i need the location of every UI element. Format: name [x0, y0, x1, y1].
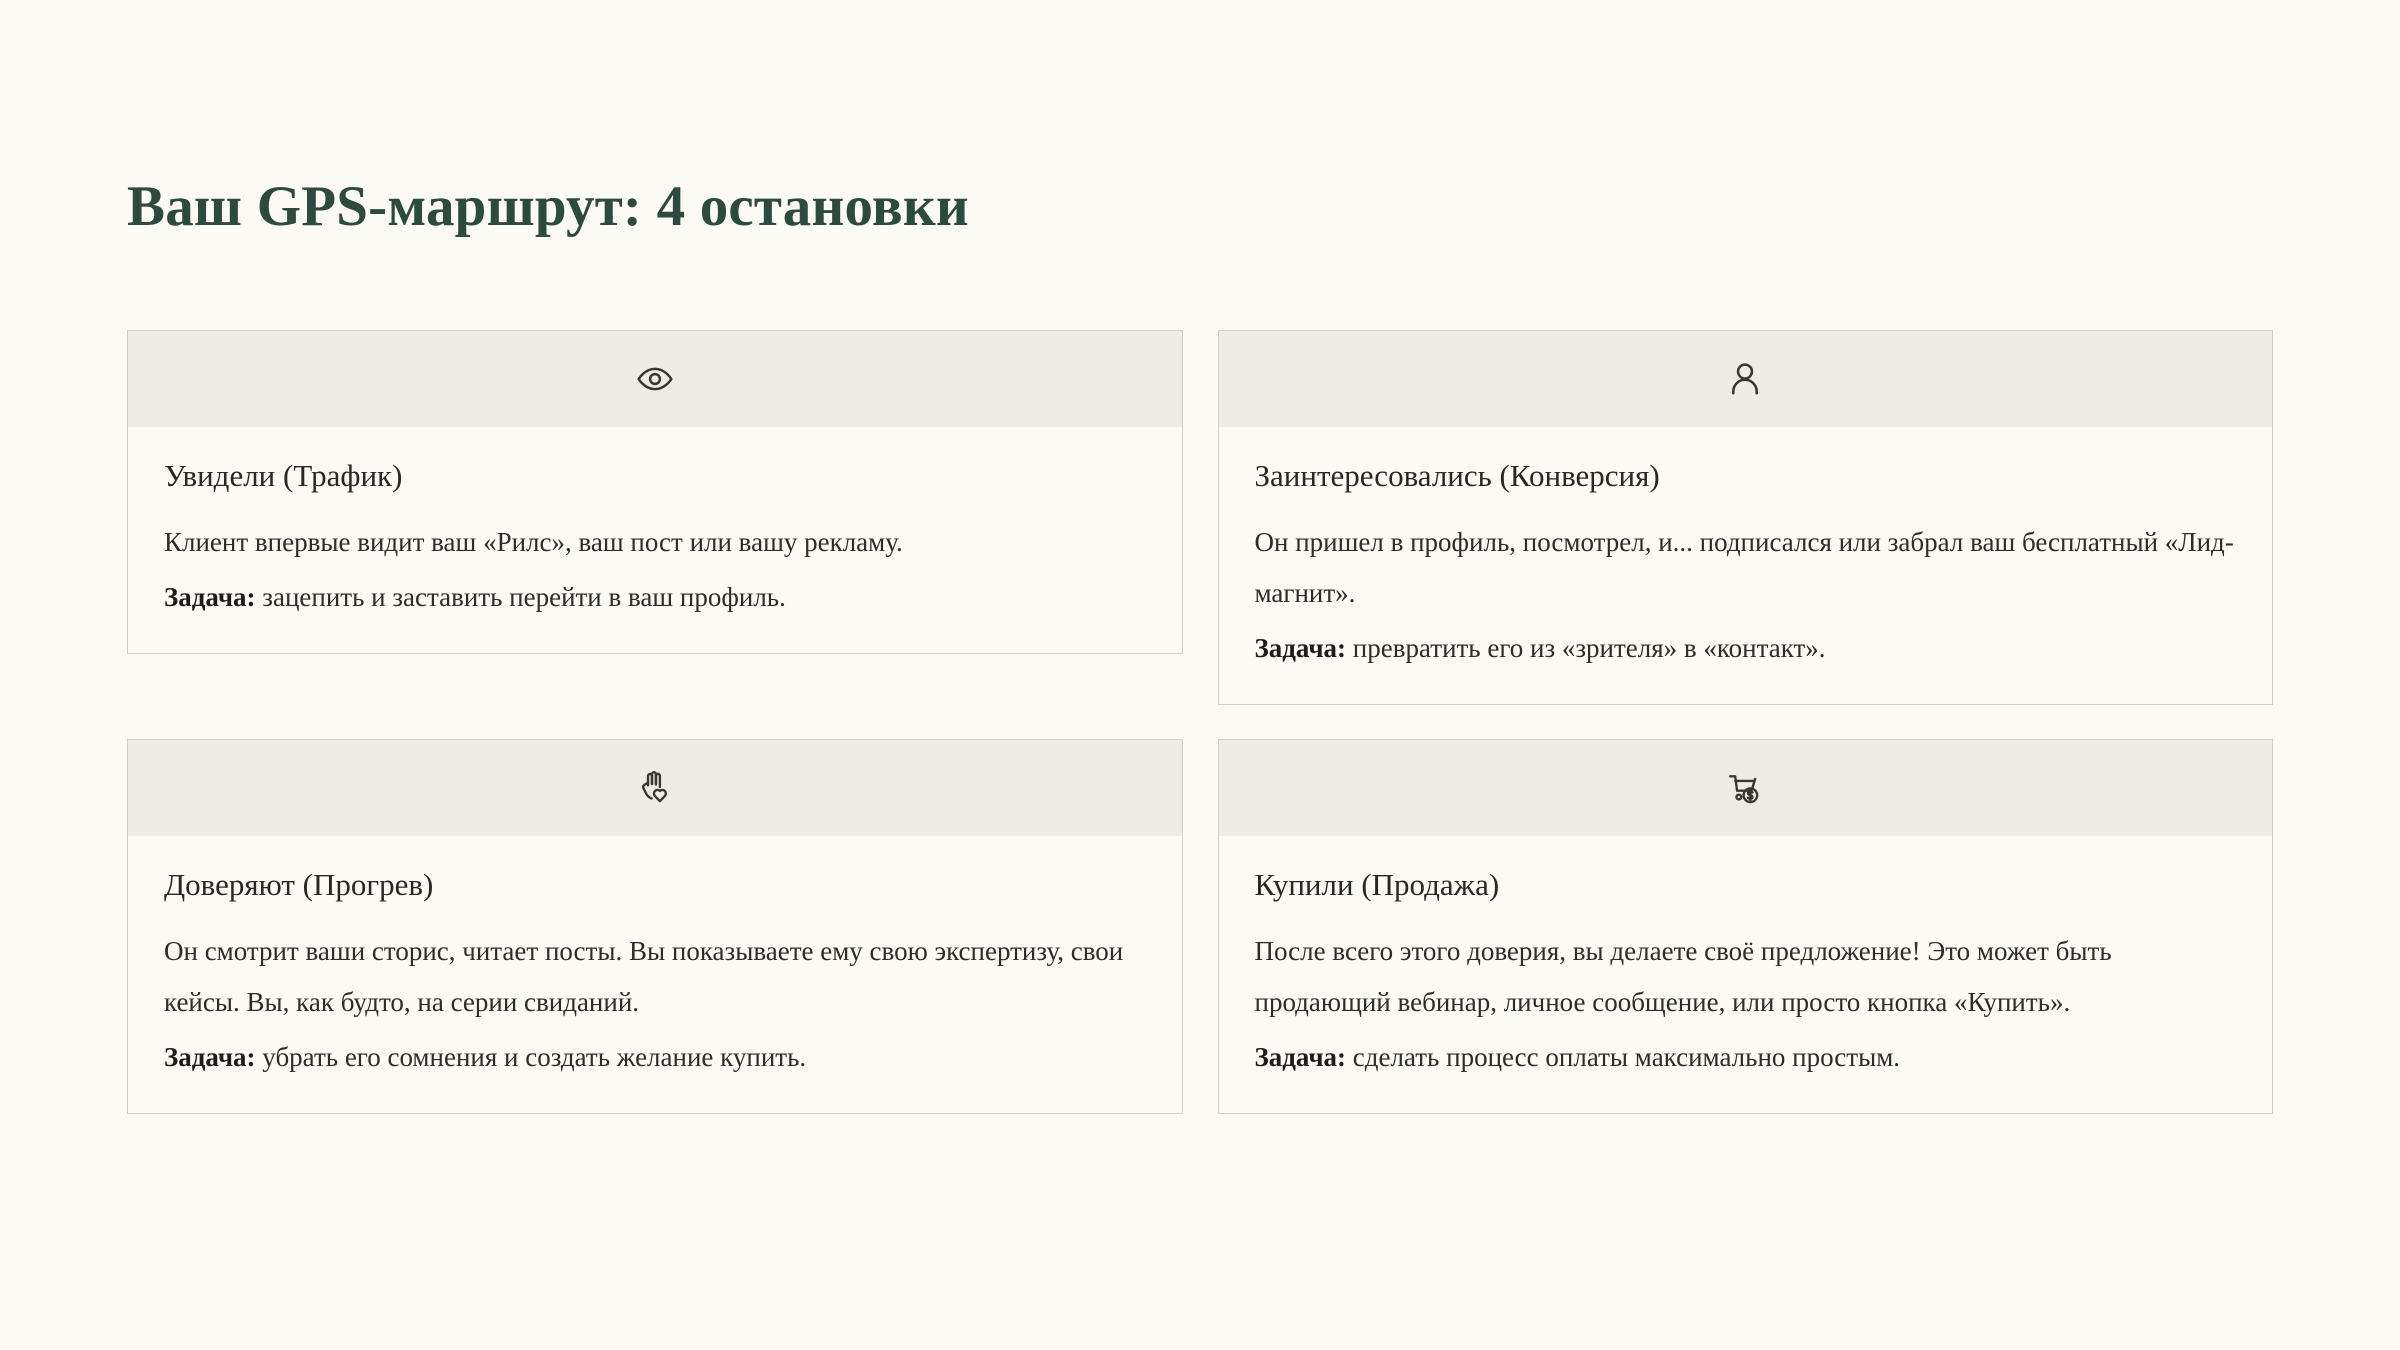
stage-card-grid: Увидели (Трафик) Клиент впервые видит ва… — [127, 330, 2273, 1114]
task-text: сделать процесс оплаты максимально прост… — [1346, 1042, 1900, 1072]
stage-card-task: Задача: зацепить и заставить перейти в в… — [164, 572, 1146, 623]
stage-card-body: Заинтересовались (Конверсия) Он пришел в… — [1219, 427, 2273, 704]
task-label: Задача: — [164, 582, 256, 612]
task-text: убрать его сомнения и создать желание ку… — [256, 1042, 807, 1072]
page-title: Ваш GPS-маршрут: 4 остановки — [127, 172, 969, 242]
stage-card-description: Клиент впервые видит ваш «Рилс», ваш пос… — [164, 517, 1146, 568]
stage-card-description: После всего этого доверия, вы делаете св… — [1255, 926, 2237, 1028]
task-label: Задача: — [164, 1042, 256, 1072]
stage-card-conversion: Заинтересовались (Конверсия) Он пришел в… — [1218, 330, 2274, 705]
user-icon — [1726, 360, 1764, 398]
task-text: превратить его из «зрителя» в «контакт». — [1346, 633, 1826, 663]
stage-card-body: Увидели (Трафик) Клиент впервые видит ва… — [128, 427, 1182, 653]
stage-card-title: Заинтересовались (Конверсия) — [1255, 457, 2237, 495]
hand-heart-icon — [636, 769, 674, 807]
stage-card-task: Задача: убрать его сомнения и создать же… — [164, 1032, 1146, 1083]
stage-card-body: Доверяют (Прогрев) Он смотрит ваши стори… — [128, 836, 1182, 1113]
stage-card-header — [128, 331, 1182, 427]
stage-card-trust: Доверяют (Прогрев) Он смотрит ваши стори… — [127, 739, 1183, 1114]
stage-card-title: Доверяют (Прогрев) — [164, 866, 1146, 904]
task-text: зацепить и заставить перейти в ваш профи… — [256, 582, 786, 612]
page-root: Ваш GPS-маршрут: 4 остановки Увидели (Тр… — [0, 0, 2400, 1350]
stage-card-task: Задача: сделать процесс оплаты максималь… — [1255, 1032, 2237, 1083]
stage-card-title: Купили (Продажа) — [1255, 866, 2237, 904]
task-label: Задача: — [1255, 1042, 1347, 1072]
stage-card-body: Купили (Продажа) После всего этого довер… — [1219, 836, 2273, 1113]
stage-card-traffic: Увидели (Трафик) Клиент впервые видит ва… — [127, 330, 1183, 654]
stage-card-description: Он смотрит ваши сторис, читает посты. Вы… — [164, 926, 1146, 1028]
stage-card-description: Он пришел в профиль, посмотрел, и... под… — [1255, 517, 2237, 619]
eye-icon — [636, 360, 674, 398]
cart-dollar-icon — [1726, 769, 1764, 807]
stage-card-purchase: Купили (Продажа) После всего этого довер… — [1218, 739, 2274, 1114]
stage-card-header — [1219, 331, 2273, 427]
task-label: Задача: — [1255, 633, 1347, 663]
stage-card-header — [1219, 740, 2273, 836]
stage-card-header — [128, 740, 1182, 836]
stage-card-task: Задача: превратить его из «зрителя» в «к… — [1255, 623, 2237, 674]
stage-card-title: Увидели (Трафик) — [164, 457, 1146, 495]
